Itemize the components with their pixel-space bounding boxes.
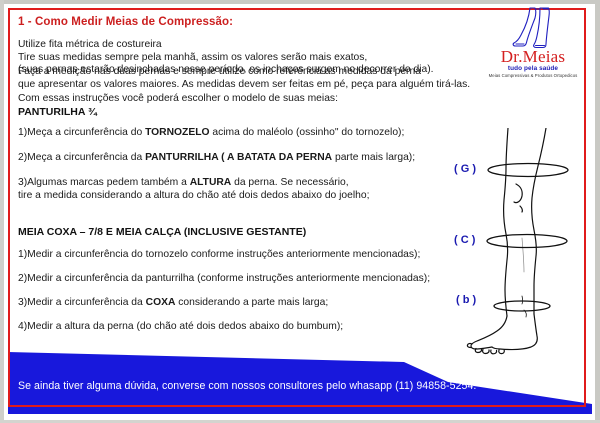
intro-line-4: Faça a medição nas duas pernas e sempre … (18, 66, 470, 79)
list-item: 4)Medir a altura da perna (do chão até d… (18, 321, 343, 334)
list-item: 3)Medir a circunferência da COXA conside… (18, 297, 328, 310)
intro-paragraph-2: Faça a medição nas duas pernas e sempre … (18, 66, 470, 91)
page-edge-left (0, 0, 4, 423)
intro-line-1: Utilize fita métrica de costureira (18, 39, 434, 52)
page-title: 1 - Como Medir Meias de Compressão: (18, 16, 233, 28)
item-text-strong: TORNOZELO (145, 127, 209, 138)
intro-line-2: Tire suas medidas sempre pela manhã, ass… (18, 52, 434, 65)
section-heading-panturilha: PANTURILHA ¾ (18, 106, 97, 118)
list-item: 3)Algumas marcas pedem também a ALTURA d… (18, 177, 369, 202)
thigh-measure-ellipse (488, 164, 568, 177)
item-text-post: parte mais larga); (332, 152, 415, 163)
item-text-pre: 2)Meça a circunferência da (18, 152, 145, 163)
item-text-post: acima do maléolo (ossinho" do tornozelo)… (210, 127, 405, 138)
item-text-pre: 2)Medir a circunferência da panturrilha … (18, 273, 430, 284)
item-text-pre: 1)Medir a circunferência do tornozelo co… (18, 249, 420, 260)
calf-measure-ellipse (487, 235, 567, 248)
legs-icon (510, 6, 556, 50)
list-item: 2)Meça a circunferência da PANTURRILHA (… (18, 152, 415, 165)
item-text-pre: 3)Medir a circunferência da (18, 297, 146, 308)
label-thigh: ( G ) (454, 163, 476, 175)
item-text-strong: ALTURA (190, 177, 232, 188)
intro-line-6: Com essas instruções você poderá escolhe… (18, 93, 338, 106)
section-heading-meia-coxa: MEIA COXA – 7/8 E MEIA CALÇA (INCLUSIVE … (18, 226, 306, 238)
ankle-measure-ellipse (494, 301, 550, 311)
list-item: 1)Meça a circunferência do TORNOZELO aci… (18, 127, 404, 140)
list-item: 1)Medir a circunferência do tornozelo co… (18, 249, 420, 262)
logo-tagline: tudo pela saúde (478, 65, 588, 73)
page-edge-top (0, 0, 600, 4)
item-text-post: considerando a parte mais larga; (175, 297, 328, 308)
poster-page: Se ainda tiver alguma dúvida, converse c… (0, 0, 600, 423)
item-text-strong: PANTURRILHA ( A BATATA DA PERNA (145, 152, 332, 163)
page-edge-right (595, 0, 600, 423)
item-text-pre: 4)Medir a altura da perna (do chão até d… (18, 321, 343, 332)
item-text-post: da perna. Se necessário, (231, 177, 348, 188)
label-ankle: ( b ) (456, 294, 476, 306)
brand-logo: Dr.Meias tudo pela saúde Meias Compressi… (478, 6, 588, 84)
leg-measurement-diagram: ( G ) ( C ) ( b ) (452, 128, 582, 360)
item-line-1: 3)Algumas marcas pedem também a ALTURA d… (18, 177, 369, 190)
item-text-pre: 1)Meça a circunferência do (18, 127, 145, 138)
item-text-strong: COXA (146, 297, 176, 308)
intro-paragraph-3: Com essas instruções você poderá escolhe… (18, 93, 338, 106)
logo-name: Dr.Meias (478, 48, 588, 65)
item-text-pre: 3)Algumas marcas pedem também a (18, 177, 190, 188)
list-item: 2)Medir a circunferência da panturrilha … (18, 273, 430, 286)
item-line-2: tire a medida considerando a altura do c… (18, 190, 369, 203)
label-calf: ( C ) (454, 234, 475, 246)
intro-line-5: que apresentar os valores maiores. As me… (18, 79, 470, 92)
logo-subtitle: Meias Compressivas & Produtos Ortopedico… (478, 73, 588, 79)
